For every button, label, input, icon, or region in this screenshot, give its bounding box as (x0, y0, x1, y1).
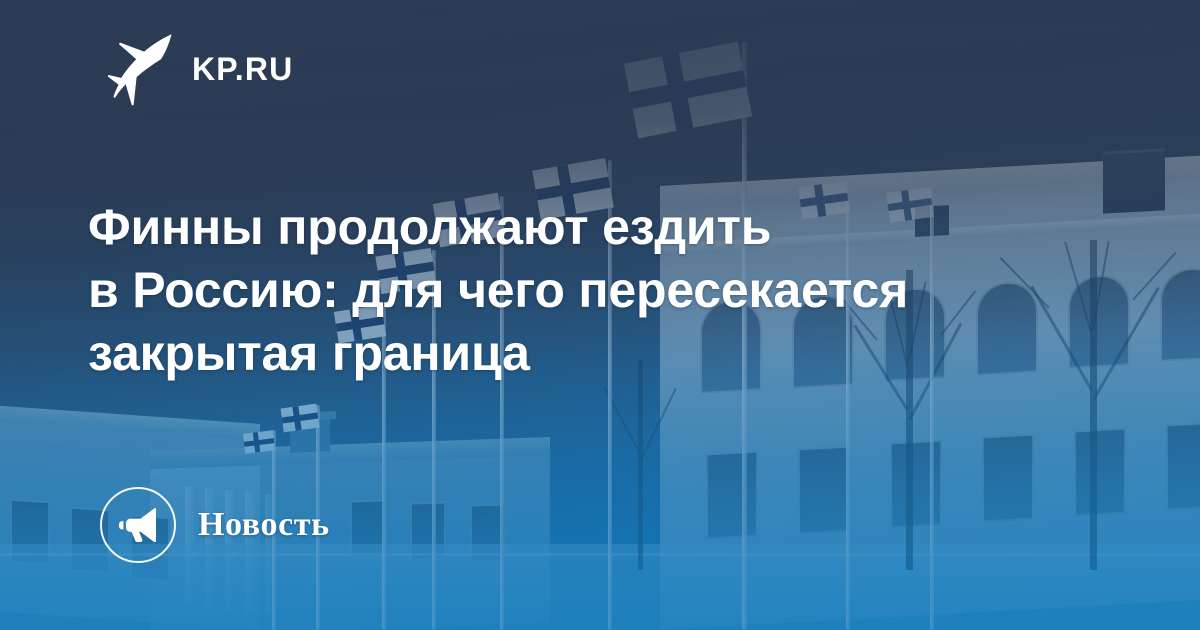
status-badge[interactable]: Новость (100, 487, 330, 563)
card-content: KP.RU Финны продолжают ездить в Россию: … (0, 0, 1200, 630)
brand-name: KP.RU (192, 53, 293, 85)
brand-logo[interactable]: KP.RU (108, 32, 293, 106)
page-title: Финны продолжают ездить в Россию: для че… (88, 196, 1048, 385)
megaphone-icon (100, 487, 176, 563)
news-share-card: KP.RU Финны продолжают ездить в Россию: … (0, 0, 1200, 630)
status-badge-label: Новость (198, 506, 330, 544)
swallow-bird-icon (108, 32, 172, 106)
